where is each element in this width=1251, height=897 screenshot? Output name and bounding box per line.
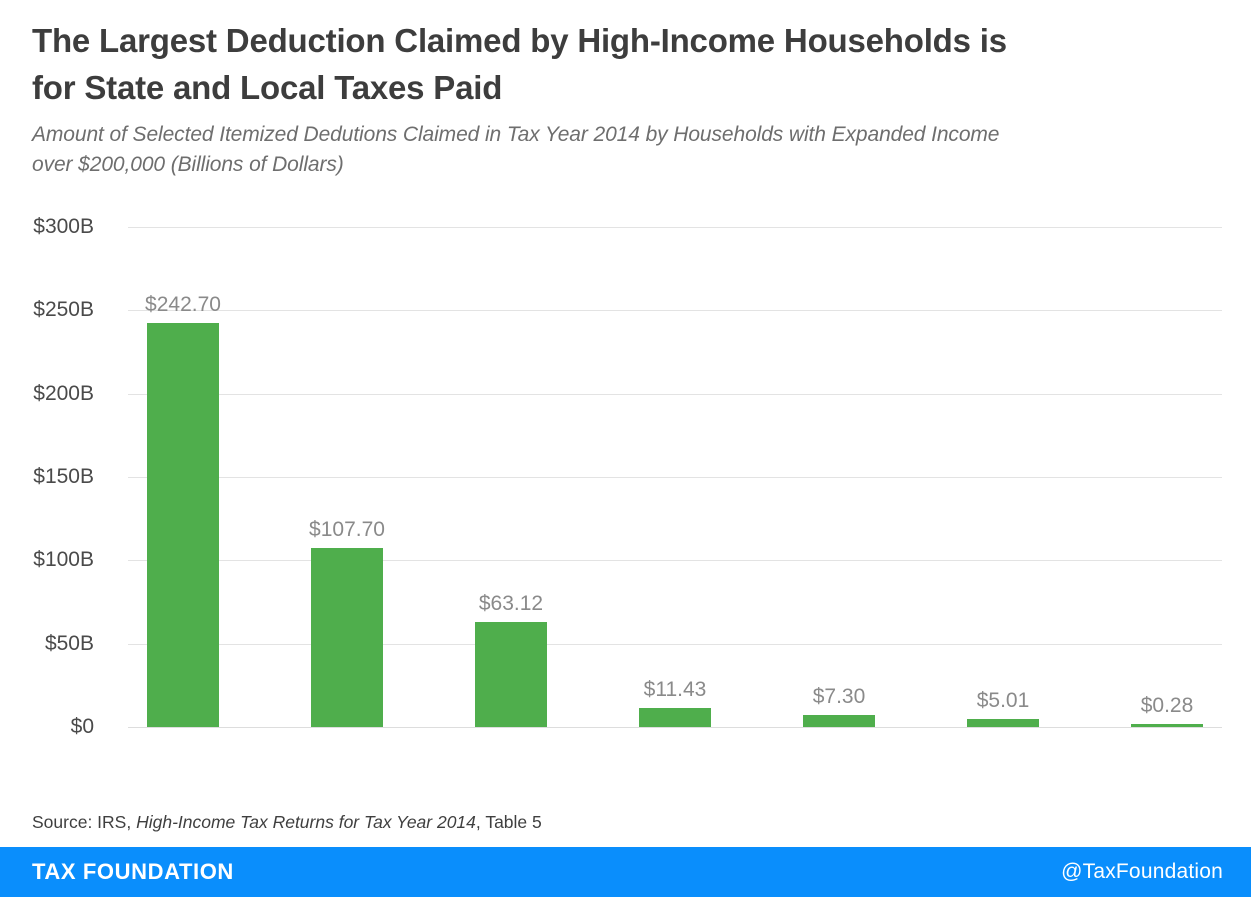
source-note: Source: IRS, High-Income Tax Returns for…: [32, 812, 542, 833]
bar-value-label: $5.01: [923, 689, 1083, 713]
footer-logo: TAX FOUNDATION: [32, 859, 234, 885]
bar-value-label: $107.70: [267, 518, 427, 542]
bar-value-label: $11.43: [595, 678, 755, 702]
bar[interactable]: [639, 708, 711, 727]
source-prefix: Source: IRS,: [32, 812, 136, 832]
bar-value-label: $242.70: [103, 293, 263, 317]
bar[interactable]: [967, 719, 1039, 727]
bar[interactable]: [803, 715, 875, 727]
bar-value-label: $7.30: [759, 685, 919, 709]
page-subtitle: Amount of Selected Itemized Dedutions Cl…: [32, 120, 1032, 181]
footer-social-handle[interactable]: @TaxFoundation: [1061, 860, 1223, 884]
footer-bar: TAX FOUNDATION @TaxFoundation: [0, 847, 1251, 897]
bar-value-label: $0.28: [1087, 694, 1247, 718]
bar[interactable]: [475, 622, 547, 727]
source-suffix: , Table 5: [476, 812, 542, 832]
bar[interactable]: [311, 548, 383, 728]
bar[interactable]: [147, 323, 219, 728]
chart-plot-area: $0$50B$100B$150B$200B$250B$300B $242.70S…: [0, 205, 1251, 805]
bar-value-label: $63.12: [431, 592, 591, 616]
chart-header: The Largest Deduction Claimed by High-In…: [32, 18, 1032, 181]
page-title: The Largest Deduction Claimed by High-In…: [32, 18, 1032, 112]
bar-series: $242.70State and local taxes paid$107.70…: [0, 205, 1251, 805]
chart-page: The Largest Deduction Claimed by High-In…: [0, 0, 1251, 897]
bar[interactable]: [1131, 724, 1203, 727]
source-title: High-Income Tax Returns for Tax Year 201…: [136, 812, 476, 832]
